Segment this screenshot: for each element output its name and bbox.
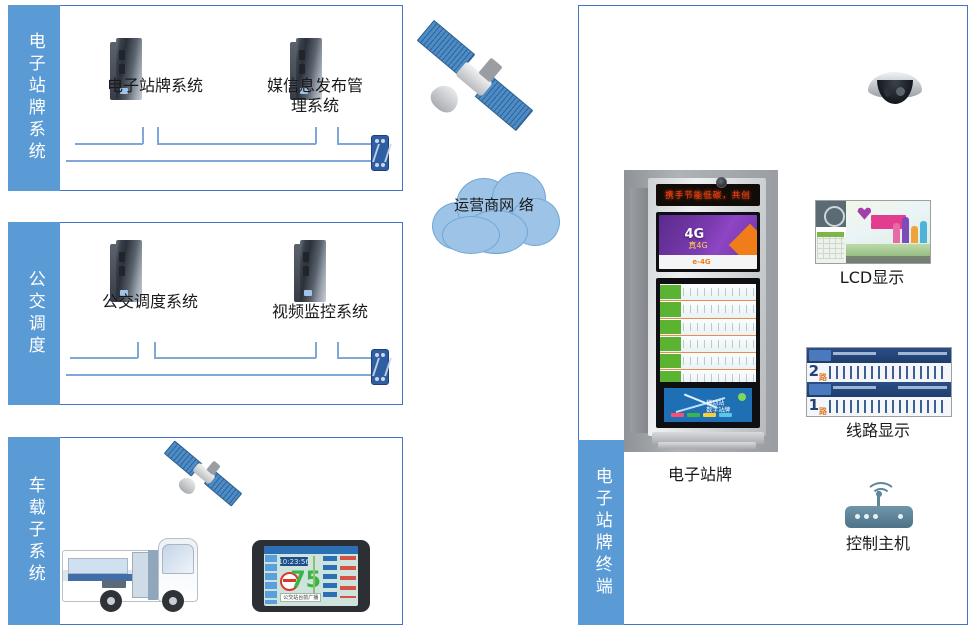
- kiosk-route-row: [660, 319, 756, 336]
- bus-backbone: [66, 160, 376, 162]
- item-label-kiosk: 电子站牌: [630, 465, 770, 485]
- bus-icon: [62, 528, 197, 613]
- vehicle-terminal-icon: 10:23:56 75 公交站台前广播: [252, 540, 370, 612]
- operator-network-cloud: 运营商网 络: [426, 168, 562, 258]
- kiosk-route-row: [660, 353, 756, 370]
- bus-wheel: [100, 590, 122, 612]
- bus-line: [337, 357, 373, 359]
- lcd-display-icon: [815, 200, 931, 264]
- network-switch-icon: [371, 349, 389, 385]
- route-display-icon: 2路 1路: [806, 347, 952, 417]
- item-label-route: 线路显示: [818, 421, 938, 441]
- node-label-eboard: 电子站牌系统: [60, 76, 250, 96]
- sidebar-tab-bus-dispatch[interactable]: 公交调度: [8, 222, 60, 405]
- bus-line: [337, 342, 339, 358]
- node-label-media: 媒信息发布管 理系统: [245, 76, 385, 116]
- bus-line: [337, 127, 339, 144]
- bus-line: [337, 143, 373, 145]
- bus-line: [70, 357, 138, 359]
- kiosk-camera-icon: [716, 177, 727, 188]
- sidebar-tab-eboard-system[interactable]: 电子站牌系统: [8, 5, 60, 191]
- sidebar-tab-label: 电子站牌终端: [591, 467, 611, 599]
- bus-line: [315, 342, 317, 358]
- sidebar-tab-onboard-subsystem[interactable]: 车载子系统: [8, 437, 60, 625]
- sidebar-tab-eboard-terminal[interactable]: 电子站牌终端: [578, 440, 624, 625]
- router-icon: [845, 478, 913, 528]
- kiosk-route-row: [660, 301, 756, 318]
- kiosk-route-screen: 移动站数字站牌: [656, 278, 760, 428]
- satellite-icon: [415, 30, 540, 150]
- kiosk-ad-screen: 4G 真4G e-4G: [656, 212, 760, 272]
- bus-line: [137, 342, 139, 358]
- kiosk-route-row: [660, 284, 756, 301]
- cloud-label: 运营商网 络: [426, 196, 562, 214]
- bus-wheel: [162, 590, 184, 612]
- node-label-video: 视频监控系统: [245, 302, 395, 322]
- bus-line: [142, 127, 144, 144]
- bus-backbone: [66, 374, 376, 376]
- network-switch-icon: [371, 135, 389, 171]
- kiosk-route-row: [660, 370, 756, 382]
- speed-value: 75: [290, 570, 321, 592]
- item-label-router: 控制主机: [818, 534, 938, 554]
- kiosk-map-panel: 移动站数字站牌: [664, 388, 752, 422]
- bus-line: [157, 127, 159, 144]
- route-display-row: 1路: [807, 397, 951, 416]
- server-icon: [294, 240, 332, 302]
- node-label-dispatch: 公交调度系统: [60, 292, 240, 312]
- sidebar-tab-label: 电子站牌系统: [24, 32, 44, 164]
- dome-camera-icon: [868, 72, 922, 106]
- terminal-clock: 10:23:56: [280, 557, 308, 567]
- sidebar-tab-label: 公交调度: [24, 270, 44, 358]
- route-display-row: 2路: [807, 363, 951, 382]
- terminal-caption: 公交站台前广播: [281, 594, 320, 602]
- kiosk-icon: 携手节能低碳，共创 4G 真4G e-4G 移动站数字站牌: [624, 170, 778, 452]
- bus-line: [154, 342, 156, 358]
- kiosk-route-row: [660, 336, 756, 353]
- bus-line: [75, 143, 143, 145]
- sidebar-tab-label: 车载子系统: [24, 476, 44, 586]
- bus-line: [154, 357, 316, 359]
- bus-line: [315, 127, 317, 144]
- item-label-lcd: LCD显示: [812, 268, 932, 288]
- bus-line: [157, 143, 316, 145]
- kiosk-led-banner: 携手节能低碳，共创: [656, 184, 760, 206]
- satellite-icon: [165, 448, 243, 510]
